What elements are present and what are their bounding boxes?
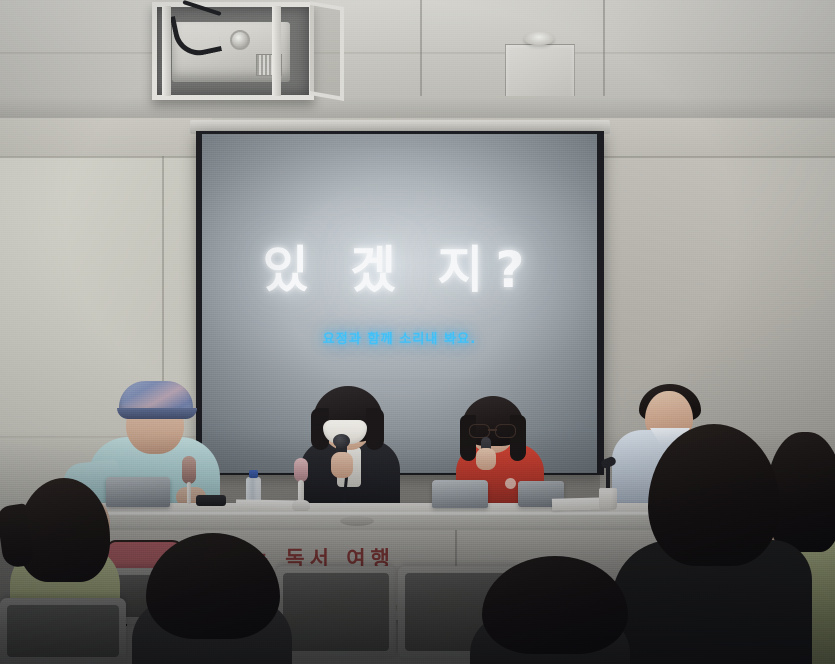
- cage-post: [162, 6, 171, 96]
- ceiling-vent-icon: [505, 44, 575, 102]
- slide-title: 있 겠 지?: [202, 230, 597, 302]
- microphone-capsule: [182, 456, 196, 484]
- desk-microphone-pink: [292, 458, 310, 510]
- cage-post: [272, 6, 281, 96]
- wall-seam: [600, 156, 835, 158]
- hair-side: [510, 415, 526, 461]
- audience-chair: [276, 566, 396, 658]
- shirt-logo: [505, 478, 516, 489]
- projection-screen-surface: 있 겠 지? 요정과 함께 소리내 봐요.: [202, 134, 597, 473]
- microphone-capsule: [294, 458, 308, 482]
- ceiling-tile-seam: [420, 0, 422, 98]
- chair-pad: [283, 573, 389, 651]
- slide-subtitle: 요정과 함께 소리내 봐요.: [202, 328, 597, 347]
- bottle-cap: [249, 470, 258, 478]
- projector-mount: [152, 2, 314, 100]
- phone: [196, 495, 226, 506]
- sprinkler-icon: [524, 32, 554, 45]
- ceiling-tile-seam: [0, 52, 835, 54]
- tablet-center: [432, 480, 488, 508]
- hand: [476, 448, 496, 470]
- microphone-stem: [298, 480, 304, 502]
- microphone-stem: [187, 482, 191, 504]
- hair-side: [460, 415, 476, 461]
- ceiling-tile-seam: [603, 0, 605, 98]
- microphone-base: [292, 500, 310, 511]
- hair-side: [366, 408, 384, 450]
- projection-screen: 있 겠 지? 요정과 함께 소리내 봐요.: [196, 131, 604, 475]
- cap-brim: [117, 408, 197, 419]
- paper-cup: [599, 488, 617, 510]
- hand: [331, 452, 353, 478]
- desk-microphone-brown: [182, 456, 196, 510]
- projector-cage-wing: [310, 1, 344, 101]
- screen-vignette: [202, 134, 597, 473]
- photo-scene: 있 겠 지? 요정과 함께 소리내 봐요.: [0, 0, 835, 664]
- wall-seam: [0, 156, 212, 158]
- chair-pad: [7, 605, 119, 657]
- projector-lens-icon: [230, 30, 250, 50]
- tablet-left: [106, 477, 170, 507]
- audience-chair: [0, 598, 126, 664]
- cable-bundle: [340, 516, 374, 526]
- glasses-bridge: [488, 429, 497, 431]
- microphone-capsule: [333, 434, 350, 448]
